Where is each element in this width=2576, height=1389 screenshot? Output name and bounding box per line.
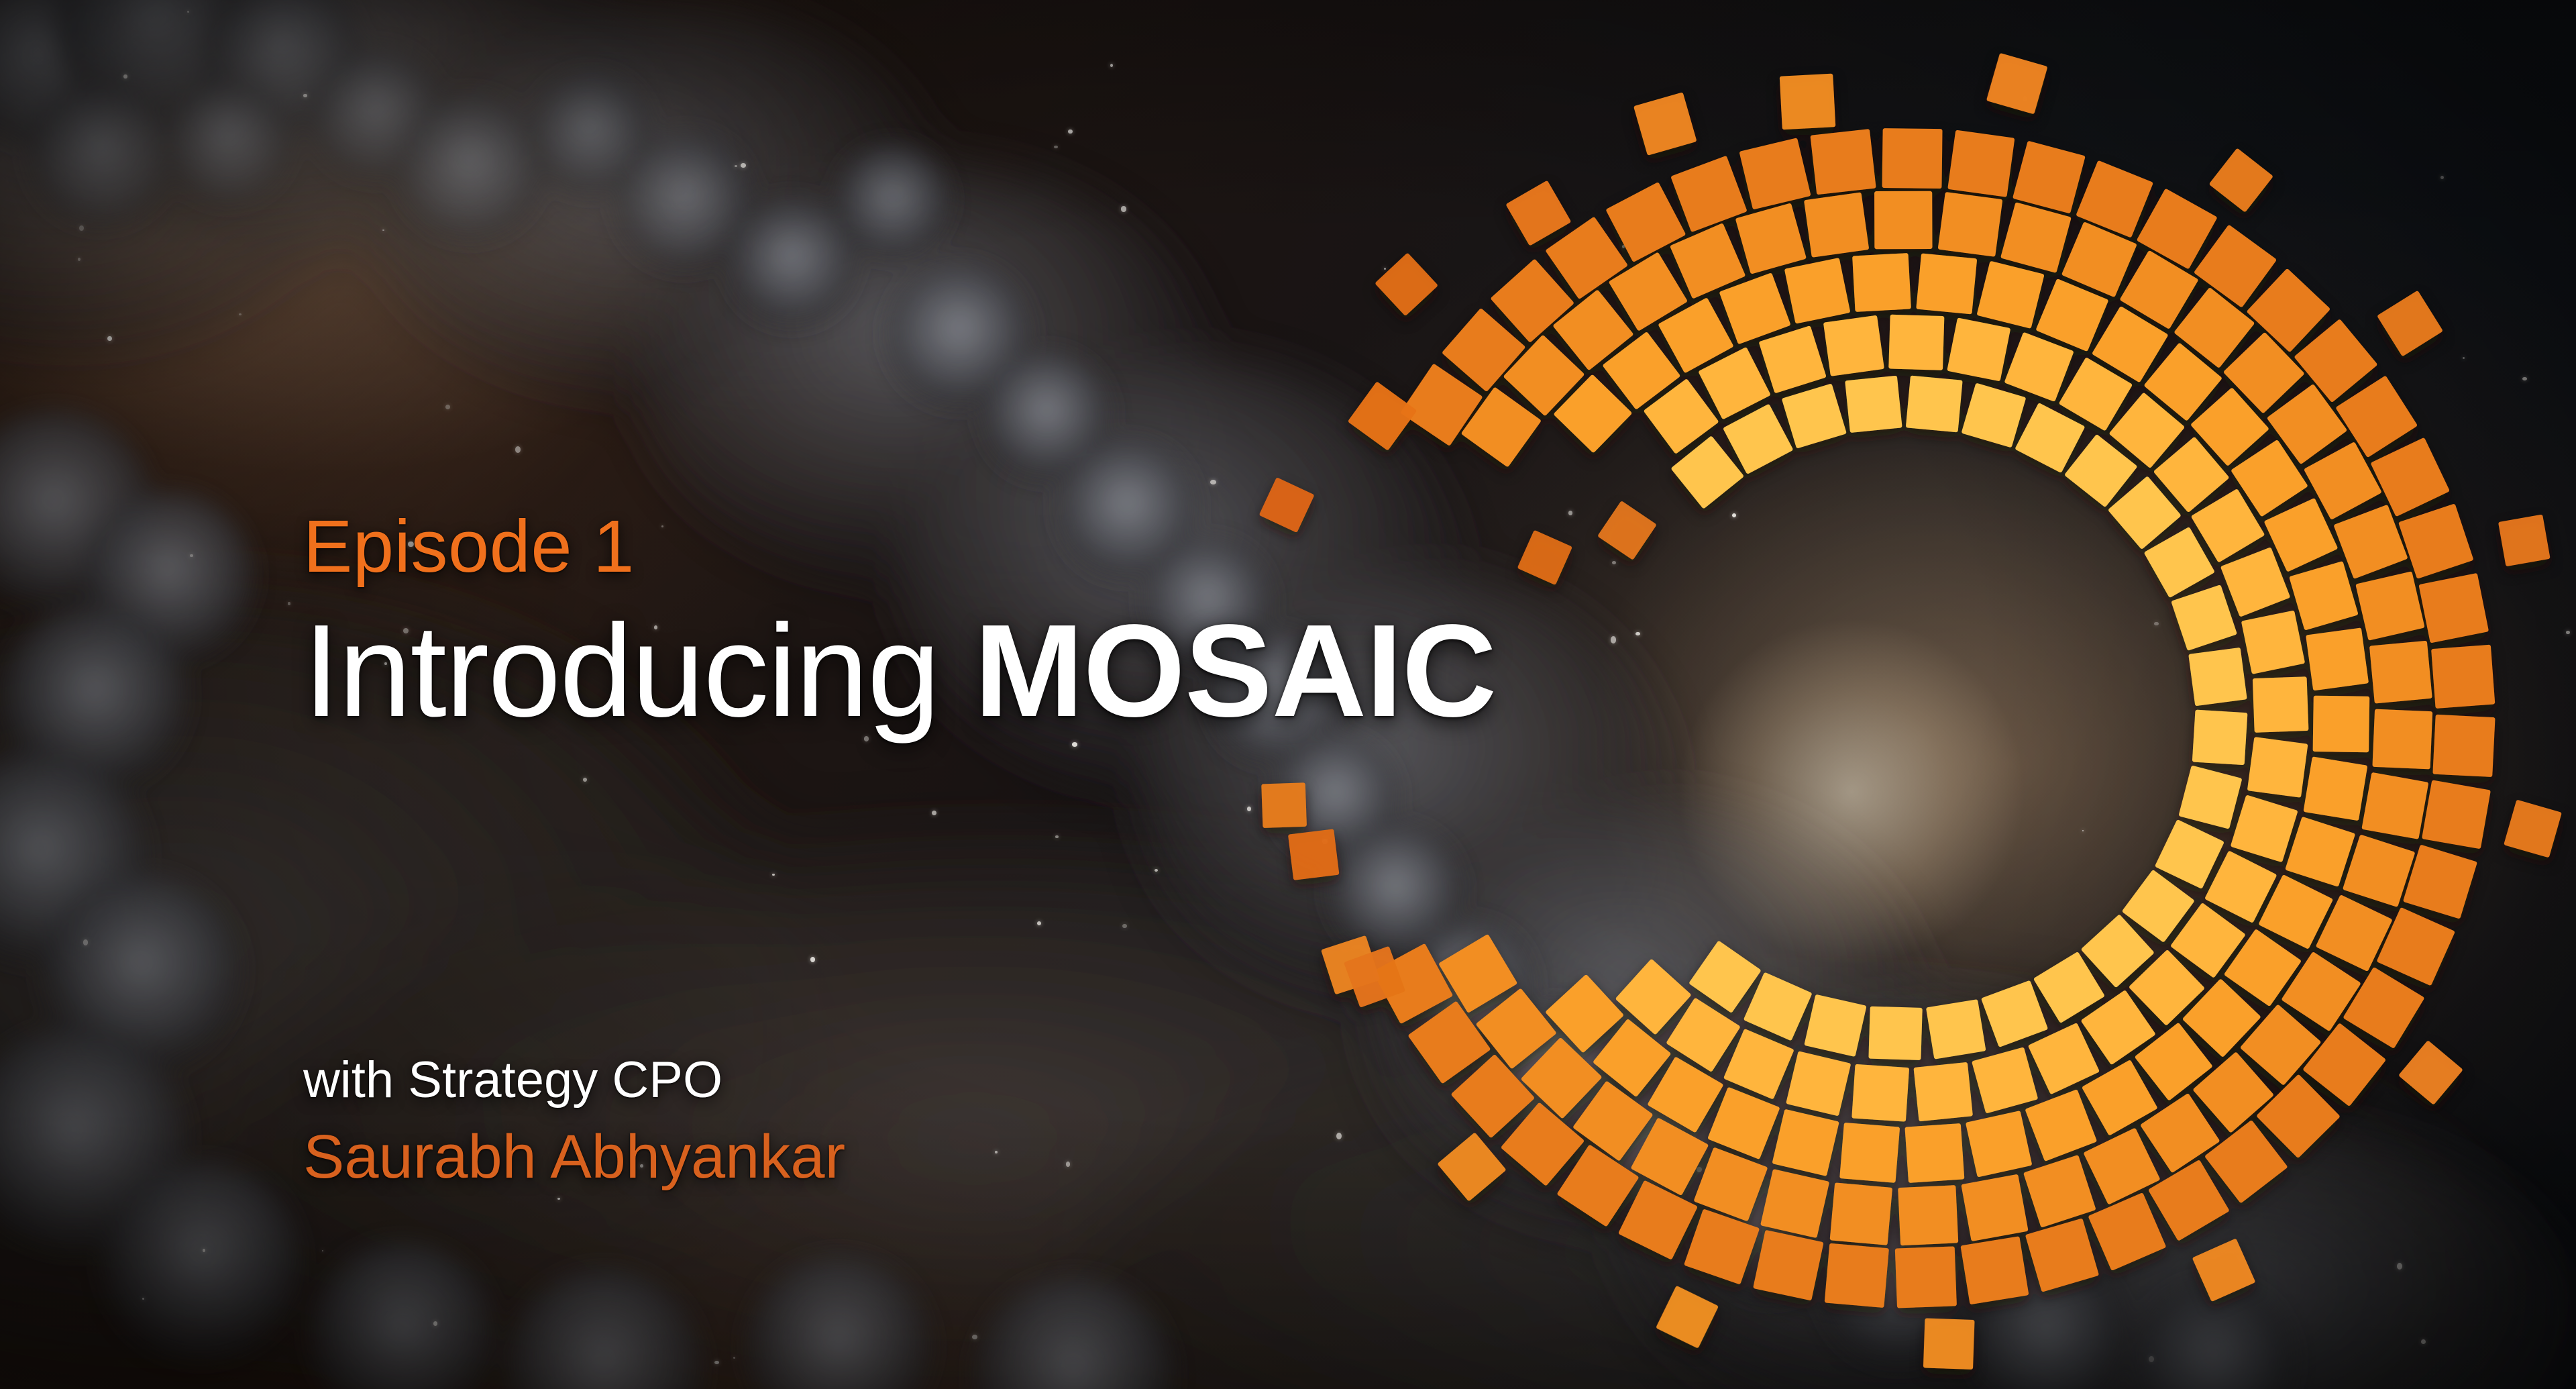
mosaic-tile — [1962, 383, 2027, 448]
mosaic-tile — [2343, 835, 2415, 907]
mosaic-tile — [1753, 1230, 1824, 1301]
mosaic-tile — [1868, 1007, 1922, 1060]
mosaic-tile — [1739, 138, 1811, 209]
mosaic-tile — [1926, 999, 1986, 1060]
mosaic-tile — [1782, 383, 1847, 448]
mosaic-tile — [2004, 332, 2074, 402]
mosaic-tile — [2231, 794, 2298, 862]
mosaic-tile — [2209, 148, 2273, 212]
mosaic-tile — [2398, 1040, 2463, 1105]
title-word-mosaic: MOSAIC — [974, 597, 1496, 744]
mosaic-tile — [2370, 438, 2450, 517]
mosaic-tile — [1437, 1132, 1506, 1201]
mosaic-tile — [1735, 203, 1807, 274]
mosaic-tile — [1743, 972, 1813, 1041]
mosaic-tile — [1804, 192, 1869, 257]
mosaic-tile — [1904, 1123, 1964, 1183]
mosaic-tile — [2247, 737, 2308, 798]
mosaic-tile — [2355, 571, 2424, 640]
mosaic-tile — [1723, 1029, 1794, 1100]
title-slide: Episode 1 Introducing MOSAIC with Strate… — [0, 0, 2576, 1389]
mosaic-tile — [2025, 1218, 2099, 1292]
mosaic-tile — [2188, 648, 2247, 707]
mosaic-tile — [1972, 1047, 2038, 1113]
mosaic-tile — [1375, 252, 1438, 316]
mosaic-tile — [2372, 709, 2432, 770]
mosaic-tile — [2432, 715, 2495, 777]
mosaic-tile — [1947, 317, 2010, 381]
mosaic-tile — [1804, 994, 1866, 1057]
mosaic-tile — [1851, 1064, 1909, 1122]
mosaic-tile — [1684, 1208, 1760, 1284]
mosaic-tile — [1719, 272, 1791, 344]
mosaic-tile — [1786, 1051, 1851, 1116]
mosaic-tile — [2012, 141, 2086, 214]
mosaic-tile — [1986, 53, 2048, 115]
page-title: Introducing MOSAIC — [303, 605, 1846, 737]
mosaic-tile — [2361, 772, 2428, 839]
mosaic-tile — [1966, 1111, 2032, 1177]
mosaic-tile — [1348, 381, 1417, 451]
mosaic-tile — [1845, 376, 1902, 433]
speaker-credit-block: with Strategy CPO Saurabh Abhyankar — [303, 1053, 845, 1189]
mosaic-tile — [2289, 561, 2359, 631]
speaker-name: Saurabh Abhyankar — [303, 1125, 845, 1190]
mosaic-tile — [2498, 515, 2551, 567]
mosaic-tile — [1780, 74, 1836, 130]
mosaic-tile — [1976, 261, 2044, 329]
mosaic-tile — [1261, 782, 1307, 828]
mosaic-tile — [1960, 1236, 2029, 1304]
mosaic-tile — [1656, 1286, 1719, 1349]
mosaic-tile — [2192, 710, 2248, 766]
mosaic-tile — [1823, 315, 1884, 376]
mosaic-tile — [2377, 291, 2443, 357]
mosaic-tile — [2192, 1238, 2256, 1302]
mosaic-tile — [2088, 1192, 2166, 1271]
mosaic-tile — [2253, 676, 2309, 733]
mosaic-tile — [1913, 1062, 1972, 1121]
mosaic-tile — [2171, 584, 2237, 651]
mosaic-tile — [2000, 202, 2072, 273]
mosaic-tile — [1916, 253, 1977, 314]
mosaic-tile — [1961, 1174, 2028, 1241]
mosaic-tile — [1760, 1169, 1829, 1238]
mosaic-tile — [2178, 766, 2242, 829]
mosaic-tile — [2285, 817, 2355, 887]
mosaic-tile — [2306, 627, 2369, 690]
mosaic-tile — [1618, 1180, 1698, 1260]
mosaic-tile — [2398, 503, 2473, 578]
mosaic-tile — [2369, 641, 2432, 704]
mosaic-tile — [2422, 780, 2491, 849]
mosaic-tile — [2313, 696, 2370, 753]
mosaic-tile — [1947, 130, 2015, 197]
mosaic-tile — [1898, 1185, 1958, 1245]
mosaic-tile — [1633, 92, 1697, 156]
mosaic-tile — [2025, 1089, 2097, 1162]
mosaic-tile — [1906, 376, 1963, 433]
mosaic-tile — [1825, 1243, 1889, 1308]
mosaic-tile — [2504, 800, 2562, 858]
title-word-introducing: Introducing — [303, 597, 939, 744]
mosaic-tile — [1759, 325, 1827, 393]
mosaic-tile — [2023, 1155, 2096, 1228]
mosaic-tile — [1784, 258, 1851, 324]
mosaic-tile — [1839, 1123, 1900, 1183]
title-text-block: Episode 1 Introducing MOSAIC — [303, 510, 1846, 737]
mosaic-tile — [2303, 756, 2367, 821]
mosaic-tile — [1882, 128, 1943, 189]
mosaic-tile — [1981, 980, 2048, 1047]
speaker-role: with Strategy CPO — [303, 1053, 845, 1107]
mosaic-tile — [1852, 253, 1911, 312]
mosaic-tile — [2241, 610, 2305, 674]
mosaic-tile — [1670, 156, 1747, 232]
mosaic-tile — [1895, 1246, 1957, 1308]
mosaic-tile — [1874, 191, 1933, 250]
mosaic-tile — [1923, 1318, 1975, 1370]
mosaic-tile — [1810, 129, 1876, 195]
mosaic-tile — [1772, 1109, 1839, 1176]
mosaic-tile — [2418, 573, 2489, 644]
mosaic-tile — [2220, 547, 2290, 617]
mosaic-tile — [1888, 315, 1944, 370]
mosaic-tile — [1938, 192, 2003, 257]
mosaic-tile — [2431, 645, 2495, 709]
mosaic-tile — [1288, 829, 1339, 880]
episode-label: Episode 1 — [303, 510, 1846, 584]
mosaic-tile — [1505, 181, 1571, 246]
mosaic-tile — [1830, 1182, 1892, 1245]
